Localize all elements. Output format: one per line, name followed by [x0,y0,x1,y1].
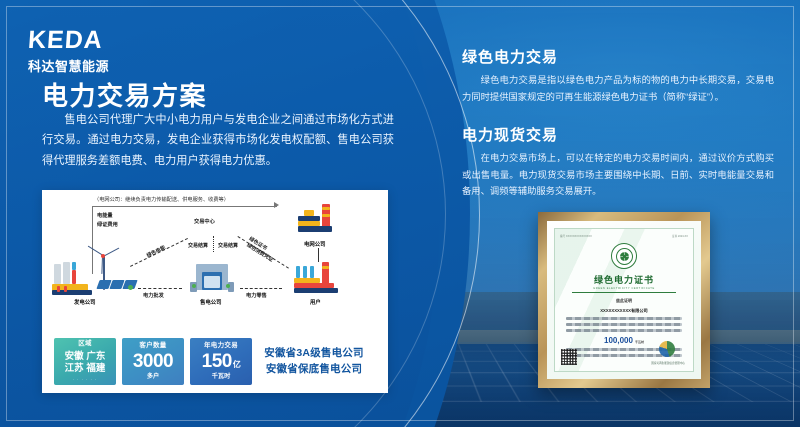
region-item-0: 安徽 [65,351,84,362]
region-item-3: 福建 [86,363,105,374]
page-title: 电力交易方案 [42,76,207,113]
section-body-green-trading: 绿色电力交易是指以绿色电力产品为标的物的电力中长期交易，交易电力同时提供国家规定… [462,72,774,105]
slide-canvas: KEDA 科达智慧能源 电力交易方案 售电公司代理广大中小电力用户与发电企业之间… [0,0,800,427]
diagram-label-trade-center: 交易中心 [194,218,215,225]
qr-code-icon [561,349,577,365]
diagram-node-user: 用户 [310,298,321,306]
diagram-label-green-power: 绿色电能 [145,244,166,259]
stat-region-title: 区域 [78,341,92,348]
stat-volume-value: 150 [202,351,232,372]
content-card: KEDA （电网公司：继续负责电力传输配送、供电服务、收费等） 电能量 绿证费用 [42,190,388,393]
certificate-title-en: GREEN ELECTRICITY CERTIFICATE [593,287,655,290]
stat-region-dots: · · · · · · [73,378,98,382]
certificate-gold-frame: 编号 XXXXXXXXXXXXXXX 证书 2023-XX 绿色电力证书 GRE… [538,212,710,388]
brand-logo-mark: KEDA [27,28,159,53]
diagram-grid-note: （电网公司：继续负责电力传输配送、供电服务、收费等） [94,196,229,203]
certificate-body-text-block [566,317,682,320]
stat-customers-value: 3000 [133,352,173,371]
diagram-label-settle-right: 交易结算 [218,242,238,249]
diagram-label-settle-left: 交易结算 [188,242,208,249]
stat-customers-unit: 多户 [147,374,159,380]
certificate-mat: 编号 XXXXXXXXXXXXXXX 证书 2023-XX 绿色电力证书 GRE… [547,221,701,379]
diagram-label-green-fee: 绿证费用 [97,221,118,228]
certificate-amount-wrap: 100,000千瓦时 [604,336,644,345]
stat-volume-value-wrap: 150亿 [202,352,241,371]
diagram-grid-to-user-line [318,248,319,262]
diagram-node-retail: 售电公司 [200,298,222,306]
section-heading-spot-trading: 电力现货交易 [462,124,558,145]
stat-card-customers: 客户数量 3000 多户 [122,338,184,385]
badge-line-1: 安徽省3A级售电公司 [264,346,363,361]
certificate-amount-unit: 千瓦时 [635,340,644,344]
diagram-label-wholesale: 电力批发 [143,292,164,299]
section-body-spot-trading: 在电力交易市场上，可以在特定的电力交易时间内，通过议价方式购买或出售电量。电力现… [462,150,774,200]
certificate-title: 绿色电力证书 [594,273,654,286]
region-item-2: 江苏 [65,363,84,374]
certificate-issuer-logo-icon [659,341,675,357]
certificate-header-right: 证书 2023-XX [672,234,688,238]
certificate-header-row: 编号 XXXXXXXXXXXXXXX 证书 2023-XX [555,234,693,241]
retail-company-icon [190,260,234,294]
region-item-1: 广东 [86,351,105,362]
diagram-top-line [92,206,277,207]
green-certificate-photo: 编号 XXXXXXXXXXXXXXX 证书 2023-XX 绿色电力证书 GRE… [538,212,710,388]
diagram-node-generation: 发电公司 [74,298,96,306]
diagram-arrow-wholesale [138,288,182,289]
stat-volume-suffix: 亿 [233,360,241,369]
certificate-organization: XXXXXXXXXXX有限公司 [600,308,647,314]
diagram-top-arrow [274,202,279,208]
badge-line-2: 安徽省保底售电公司 [266,362,362,377]
certificate-header-left: 编号 XXXXXXXXXXXXXXX [560,234,592,238]
diagram-node-grid: 电网公司 [304,240,326,248]
qualification-badge: 安徽省3A级售电公司 安徽省保底售电公司 [250,338,378,385]
grid-company-icon [294,204,344,238]
intro-paragraph: 售电公司代理广大中小电力用户与发电企业之间通过市场化方式进行交易。通过电力交易，… [42,110,394,171]
section-heading-green-trading: 绿色电力交易 [462,46,558,67]
certificate-issuer: 国家可再生能源信息管理中心 [651,361,685,365]
certificate-body-text-block-2 [566,323,682,326]
stat-card-volume: 年电力交易 150亿 千瓦时 [190,338,252,385]
diagram-label-energy-fee: 电能量 [97,212,113,219]
certificate-paper: 编号 XXXXXXXXXXXXXXX 证书 2023-XX 绿色电力证书 GRE… [554,228,694,372]
stat-volume-title: 年电力交易 [204,343,238,350]
stat-region-values: 安徽 广东 江苏 福建 [65,351,106,375]
brand-logo-subtitle: 科达智慧能源 [28,56,158,75]
certificate-amount: 100,000 [604,336,633,345]
user-factory-icon [292,262,346,294]
solar-array-icon [98,278,136,294]
stat-customers-title: 客户数量 [139,343,166,350]
brand-logo: KEDA 科达智慧能源 [28,28,158,75]
certificate-seal-icon [611,243,637,269]
stat-volume-unit: 千瓦时 [212,374,231,380]
diagram-settle-connector [213,236,214,252]
diagram-arrow-retail [240,288,282,289]
stats-row: 区域 安徽 广东 江苏 福建 · · · · · · 客户数量 3000 多户 … [54,338,252,385]
certificate-subtitle: 兹此证明 [616,298,632,304]
diagram-label-retail: 电力零售 [246,292,267,299]
stat-card-region: 区域 安徽 广东 江苏 福建 · · · · · · [54,338,116,385]
certificate-rule [572,292,677,293]
trading-flow-diagram: （电网公司：继续负责电力传输配送、供电服务、收费等） 电能量 绿证费用 [42,190,388,332]
certificate-body-text-block-3 [566,329,682,332]
